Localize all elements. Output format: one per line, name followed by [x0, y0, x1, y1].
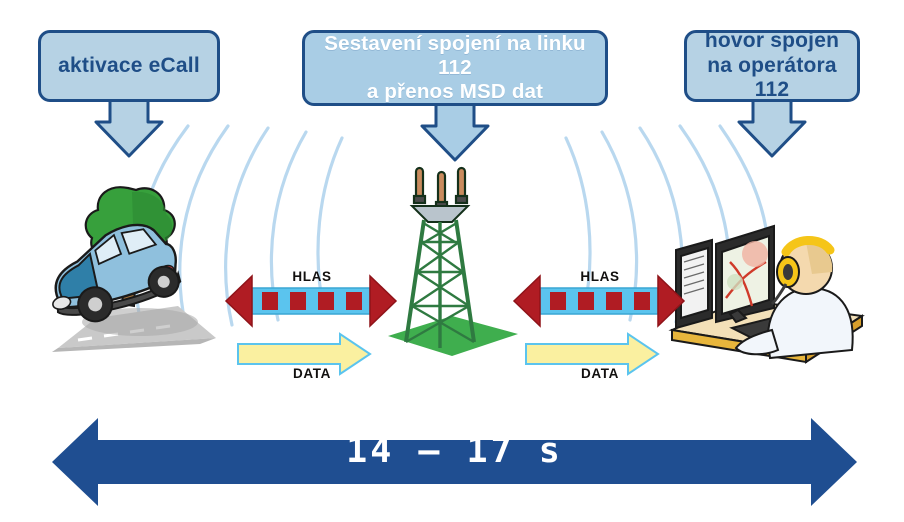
voice-label-right: HLAS	[524, 269, 676, 284]
data-label-left: DATA	[236, 366, 388, 381]
voice-label-left: HLAS	[236, 269, 388, 284]
callout-connection-line2: a přenos MSD dat	[367, 80, 543, 103]
callout-operator-text: hovor spojen na operátora 112	[687, 29, 857, 103]
timeline-label: 14 – 17 s	[52, 431, 857, 471]
callout-operator: hovor spojen na operátora 112	[684, 30, 860, 102]
data-label-right: DATA	[524, 366, 676, 381]
callout-activation-text: aktivace eCall	[58, 54, 200, 79]
callout-activation: aktivace eCall	[38, 30, 220, 102]
callout-connection-text: Sestavení spojení na linku 112 a přenos …	[305, 32, 605, 105]
callout-connection: Sestavení spojení na linku 112 a přenos …	[302, 30, 608, 106]
callout-operator-line1: hovor spojen	[705, 29, 839, 52]
callout-connection-line1: Sestavení spojení na linku 112	[324, 32, 586, 79]
diagram-canvas: aktivace eCall Sestavení spojení na link…	[0, 0, 904, 522]
callout-operator-line2: na operátora 112	[707, 54, 837, 102]
